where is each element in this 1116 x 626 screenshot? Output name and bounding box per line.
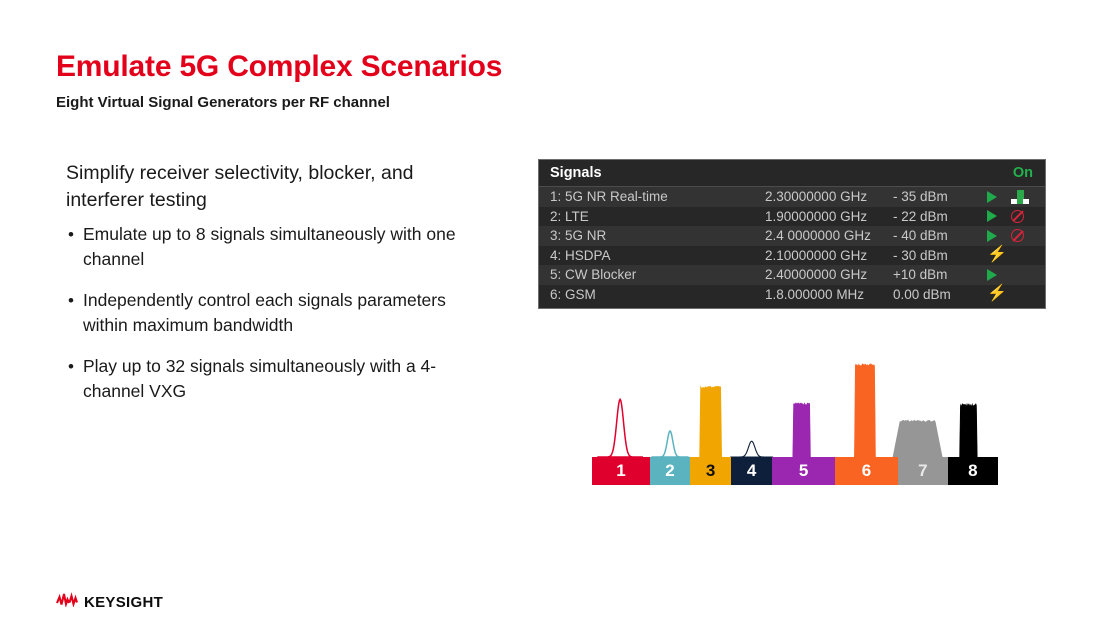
spectrum-trace-5 (793, 403, 811, 457)
table-row[interactable]: 5: CW Blocker 2.40000000 GHz +10 dBm (539, 265, 1045, 285)
spectrum-icon[interactable] (1011, 190, 1029, 204)
feature-bullet-list: • Emulate up to 8 signals simultaneously… (66, 222, 486, 420)
spectrum-trace-3 (700, 386, 722, 457)
play-icon[interactable] (987, 210, 997, 222)
list-item-label: Play up to 32 signals simultaneously wit… (83, 356, 436, 401)
signal-status-icons (985, 269, 1045, 281)
spectrum-trace-6 (854, 364, 875, 457)
bolt-icon[interactable]: ⚡ (987, 248, 1007, 262)
signals-panel-title: Signals (550, 165, 602, 181)
signals-on-status-badge[interactable]: On (1013, 165, 1033, 181)
spectrum-trace-7 (893, 420, 942, 457)
signal-frequency: 1.90000000 GHz (765, 209, 893, 224)
list-item: • Play up to 32 signals simultaneously w… (66, 354, 486, 404)
table-row[interactable]: 1: 5G NR Real-time 2.30000000 GHz - 35 d… (539, 187, 1045, 207)
page-title: Emulate 5G Complex Scenarios (56, 50, 502, 84)
channel-label: 2 (665, 461, 674, 481)
spectrum-figure: 12345678 (592, 360, 1038, 485)
channel-label: 3 (706, 461, 715, 481)
list-item-label: Emulate up to 8 signals simultaneously w… (83, 224, 456, 269)
channel-label: 8 (968, 461, 977, 481)
list-item: • Independently control each signals par… (66, 288, 486, 338)
table-row[interactable]: 4: HSDPA 2.10000000 GHz - 30 dBm ⚡ (539, 246, 1045, 266)
keysight-wave-mark-icon (56, 592, 78, 612)
lead-statement: Simplify receiver selectivity, blocker, … (66, 160, 466, 214)
channel-block-7[interactable]: 7 (898, 457, 948, 485)
spectrum-trace-group (592, 360, 1038, 457)
channel-block-4[interactable]: 4 (731, 457, 772, 485)
signal-power: 0.00 dBm (893, 287, 985, 302)
bullet-marker-icon: • (68, 288, 74, 313)
signal-status-icons: ⚡ (985, 248, 1045, 262)
channel-label: 5 (799, 461, 808, 481)
spectrum-trace-8 (960, 404, 978, 457)
channel-block-5[interactable]: 5 (772, 457, 835, 485)
play-icon[interactable] (987, 269, 997, 281)
signal-name: 4: HSDPA (539, 248, 765, 263)
list-item-label: Independently control each signals param… (83, 290, 446, 335)
channel-label: 6 (862, 461, 871, 481)
signals-panel: Signals On 1: 5G NR Real-time 2.30000000… (538, 159, 1046, 309)
signal-frequency: 1.8.000000 MHz (765, 287, 893, 302)
channel-block-1[interactable]: 1 (592, 457, 650, 485)
signal-power: - 40 dBm (893, 228, 985, 243)
signal-power: +10 dBm (893, 267, 985, 282)
spectrum-trace-4 (730, 441, 773, 457)
signal-name: 2: LTE (539, 209, 765, 224)
signal-power: - 30 dBm (893, 248, 985, 263)
channel-block-3[interactable]: 3 (690, 457, 731, 485)
blocked-icon[interactable] (1011, 210, 1024, 223)
spectrum-trace-2 (652, 431, 689, 457)
bolt-icon[interactable]: ⚡ (987, 287, 1007, 301)
signal-power: - 35 dBm (893, 189, 985, 204)
table-row[interactable]: 6: GSM 1.8.000000 MHz 0.00 dBm ⚡ (539, 285, 1045, 305)
signal-status-icons: ⚡ (985, 287, 1045, 301)
play-icon[interactable] (987, 191, 997, 203)
blocked-icon[interactable] (1011, 229, 1024, 242)
bullet-marker-icon: • (68, 354, 74, 379)
signal-frequency: 2.40000000 GHz (765, 267, 893, 282)
channel-label: 1 (616, 461, 625, 481)
signal-status-icons (985, 190, 1045, 204)
signal-status-icons (985, 229, 1045, 242)
channel-block-8[interactable]: 8 (948, 457, 998, 485)
signal-frequency: 2.30000000 GHz (765, 189, 893, 204)
signal-status-icons (985, 210, 1045, 223)
bullet-marker-icon: • (68, 222, 74, 247)
channel-block-6[interactable]: 6 (835, 457, 898, 485)
keysight-wordmark: KEYSIGHT (84, 594, 163, 611)
signal-name: 5: CW Blocker (539, 267, 765, 282)
signal-name: 6: GSM (539, 287, 765, 302)
signal-power: - 22 dBm (893, 209, 985, 224)
signal-frequency: 2.4 0000000 GHz (765, 228, 893, 243)
keysight-logo: KEYSIGHT (56, 592, 163, 612)
page-subtitle: Eight Virtual Signal Generators per RF c… (56, 94, 390, 111)
play-icon[interactable] (987, 230, 997, 242)
signal-name: 3: 5G NR (539, 228, 765, 243)
list-item: • Emulate up to 8 signals simultaneously… (66, 222, 486, 272)
channel-block-2[interactable]: 2 (650, 457, 690, 485)
channel-label: 4 (747, 461, 756, 481)
signal-name: 1: 5G NR Real-time (539, 189, 765, 204)
channel-color-bar: 12345678 (592, 457, 1038, 485)
table-row[interactable]: 3: 5G NR 2.4 0000000 GHz - 40 dBm (539, 226, 1045, 246)
table-row[interactable]: 2: LTE 1.90000000 GHz - 22 dBm (539, 207, 1045, 227)
spectrum-trace-1 (597, 399, 643, 457)
signal-frequency: 2.10000000 GHz (765, 248, 893, 263)
channel-label: 7 (918, 461, 927, 481)
signals-panel-header: Signals On (539, 163, 1045, 187)
